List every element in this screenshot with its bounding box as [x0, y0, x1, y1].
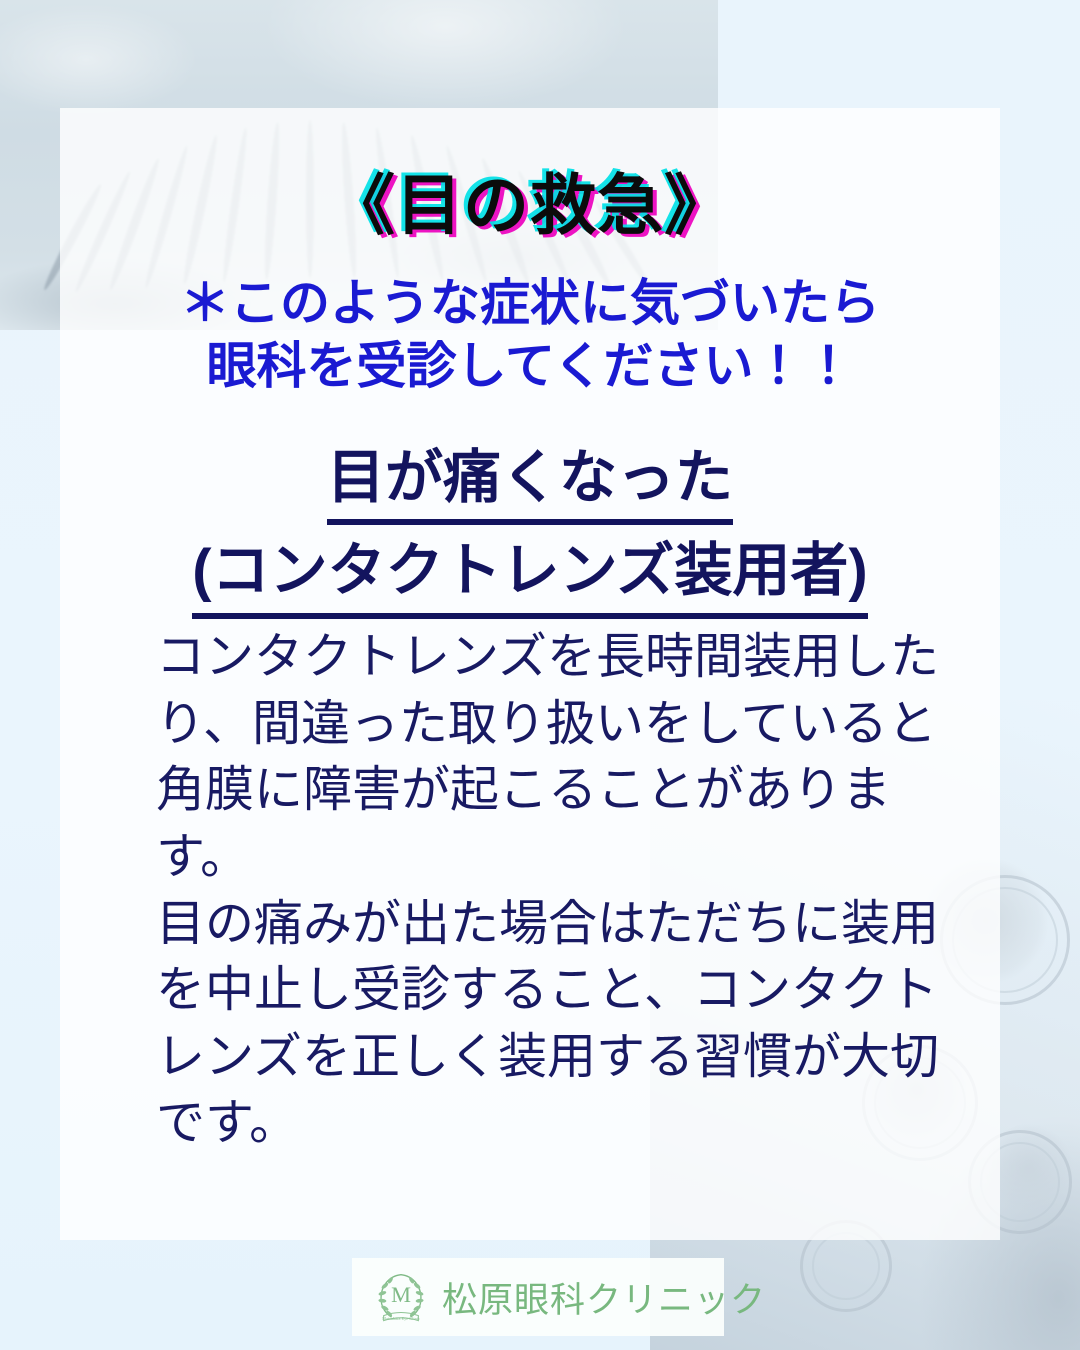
clinic-logo: M Matsubara Eye Clinic 松原眼科クリニック	[352, 1258, 724, 1336]
headline-row-1: 目が痛くなった	[60, 438, 1000, 525]
headline-block: 目が痛くなった (コンタクトレンズ装用者)	[60, 438, 1000, 619]
clinic-name: 松原眼科クリニック	[442, 1272, 766, 1323]
subtitle-line-1: ＊このような症状に気づいたら	[60, 272, 1000, 335]
body-copy: コンタクトレンズを長時間装用したり、間違った取り扱いをしていると角膜に障害が起こ…	[156, 624, 946, 1157]
headline-line-2: (コンタクトレンズ装用者)	[192, 531, 867, 618]
svg-text:M: M	[391, 1282, 411, 1307]
logo-banner-text: Matsubara Eye Clinic	[382, 1316, 420, 1321]
body-paragraph-1: コンタクトレンズを長時間装用したり、間違った取り扱いをしていると角膜に障害が起こ…	[156, 624, 946, 891]
headline-row-2: (コンタクトレンズ装用者)	[60, 531, 1000, 618]
subtitle-block: ＊このような症状に気づいたら 眼科を受診してください！！	[60, 272, 1000, 398]
page-title: 《目の救急》	[60, 152, 1000, 248]
headline-line-1: 目が痛くなった	[327, 438, 733, 525]
body-paragraph-2: 目の痛みが出た場合はただちに装用を中止し受診すること、コンタクトレンズを正しく装…	[156, 891, 946, 1158]
poster-canvas: 《目の救急》 ＊このような症状に気づいたら 眼科を受診してください！！ 目が痛く…	[0, 0, 1080, 1350]
subtitle-line-2: 眼科を受診してください！！	[60, 335, 1000, 398]
laurel-wreath-m-icon: M Matsubara Eye Clinic	[370, 1266, 432, 1328]
